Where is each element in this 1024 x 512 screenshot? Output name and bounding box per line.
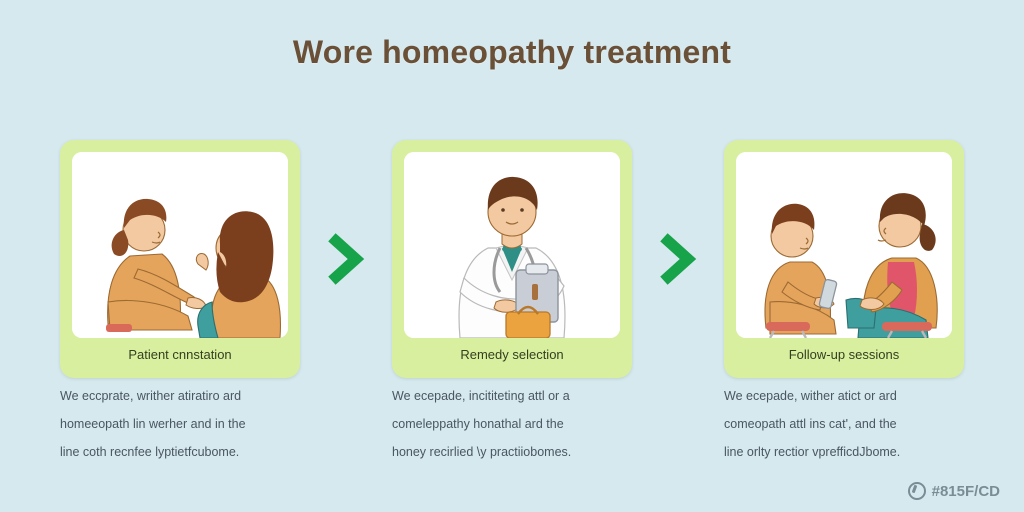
chevron-right-icon-2 [632, 140, 724, 378]
step-2-caption: Remedy selection [404, 347, 620, 363]
step-3-description-line-2: comeopath attl ins cat', and the [724, 410, 964, 438]
step-card-2[interactable]: Remedy selection [392, 140, 632, 378]
step-1-description-line-3: line coth recnfee lyptietfcubome. [60, 438, 300, 466]
step-2-thumbnail [404, 152, 620, 338]
watermark-text: #815F/CD [932, 483, 1000, 500]
doctor-with-clipboard-illustration [404, 152, 620, 338]
step-1-description: We eccprate, writher atiratiro ard homee… [60, 382, 300, 466]
step-card-3[interactable]: Follow-up sessions [724, 140, 964, 378]
step-3-thumbnail [736, 152, 952, 338]
chevron-right-icon [324, 233, 368, 285]
step-3-description-line-1: We ecepade, wither atict or ard [724, 382, 964, 410]
consultation-two-people-illustration [72, 152, 288, 338]
steps-row: Patient cnnstation [0, 140, 1024, 380]
step-2-description-line-2: comeleppathy honathal ard the [392, 410, 632, 438]
chevron-right-icon-1 [300, 140, 392, 378]
step-1-description-line-1: We eccprate, writher atiratiro ard [60, 382, 300, 410]
step-3-description: We ecepade, wither atict or ard comeopat… [724, 382, 964, 466]
description-gap-1 [300, 382, 392, 466]
step-3-description-line-3: line orlty rectior vprefficdJbome. [724, 438, 964, 466]
infographic-canvas: Wore homeopathy treatment [0, 0, 1024, 512]
step-1-caption: Patient cnnstation [72, 347, 288, 363]
follow-up-session-illustration [736, 152, 952, 338]
watermark: #815F/CD [908, 482, 1000, 500]
circle-figure-icon [908, 482, 926, 500]
descriptions-row: We eccprate, writher atiratiro ard homee… [0, 382, 1024, 466]
page-title: Wore homeopathy treatment [0, 34, 1024, 71]
step-2-description-line-1: We ecepade, incititeting attl or a [392, 382, 632, 410]
chevron-right-icon [656, 233, 700, 285]
step-card-1[interactable]: Patient cnnstation [60, 140, 300, 378]
step-2-description: We ecepade, incititeting attl or a comel… [392, 382, 632, 466]
step-2-description-line-3: honey recirlied \y practiiobomes. [392, 438, 632, 466]
step-3-caption: Follow-up sessions [736, 347, 952, 363]
step-1-thumbnail [72, 152, 288, 338]
description-gap-2 [632, 382, 724, 466]
step-1-description-line-2: homeeopath lin werher and in the [60, 410, 300, 438]
